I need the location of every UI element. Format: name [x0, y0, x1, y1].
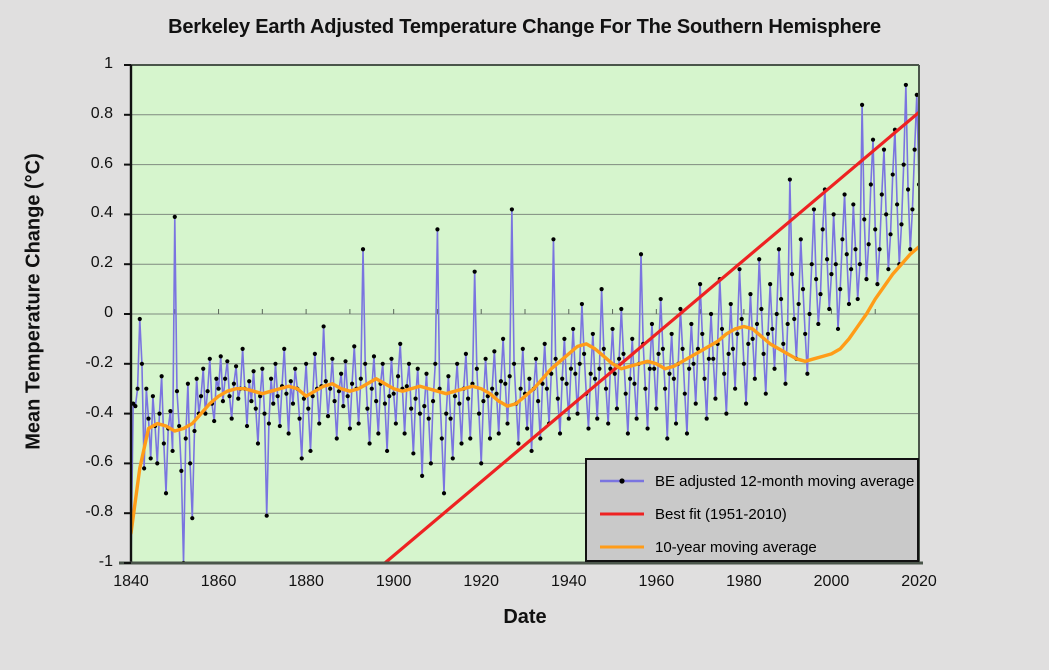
legend-item-10-year: 10-year moving average: [587, 530, 921, 564]
x-tick-label: 1860: [184, 573, 254, 591]
legend-label-10-year: 10-year moving average: [655, 539, 817, 556]
legend-swatch-purple-line-marker: [599, 474, 645, 488]
legend-swatch-orange-line: [599, 540, 645, 554]
plot-area: [0, 0, 1049, 670]
y-tick-label: -0.2: [53, 354, 113, 372]
y-tick-label: 0.6: [53, 155, 113, 173]
y-tick-label: 0.4: [53, 204, 113, 222]
chart-legend: BE adjusted 12-month moving average Best…: [585, 458, 919, 562]
legend-label-best-fit: Best fit (1951-2010): [655, 506, 787, 523]
x-tick-label: 1900: [359, 573, 429, 591]
x-tick-label: 1920: [446, 573, 516, 591]
x-tick-label: 1940: [534, 573, 604, 591]
y-tick-label: 1: [53, 55, 113, 73]
y-tick-label: 0.2: [53, 254, 113, 272]
x-tick-label: 2020: [884, 573, 954, 591]
x-tick-label: 1980: [709, 573, 779, 591]
x-tick-label: 1960: [621, 573, 691, 591]
x-tick-label: 2000: [796, 573, 866, 591]
y-tick-label: 0: [53, 304, 113, 322]
x-tick-label: 1880: [271, 573, 341, 591]
legend-item-be-adjusted: BE adjusted 12-month moving average: [587, 464, 921, 498]
legend-swatch-red-line: [599, 507, 645, 521]
x-tick-label: 1840: [96, 573, 166, 591]
legend-item-best-fit: Best fit (1951-2010): [587, 497, 921, 531]
y-tick-label: -0.8: [53, 503, 113, 521]
y-tick-label: 0.8: [53, 105, 113, 123]
y-tick-label: -1: [53, 553, 113, 571]
legend-label-be-adjusted: BE adjusted 12-month moving average: [655, 473, 914, 490]
y-tick-label: -0.4: [53, 404, 113, 422]
chart-container: Berkeley Earth Adjusted Temperature Chan…: [0, 0, 1049, 670]
y-tick-label: -0.6: [53, 453, 113, 471]
